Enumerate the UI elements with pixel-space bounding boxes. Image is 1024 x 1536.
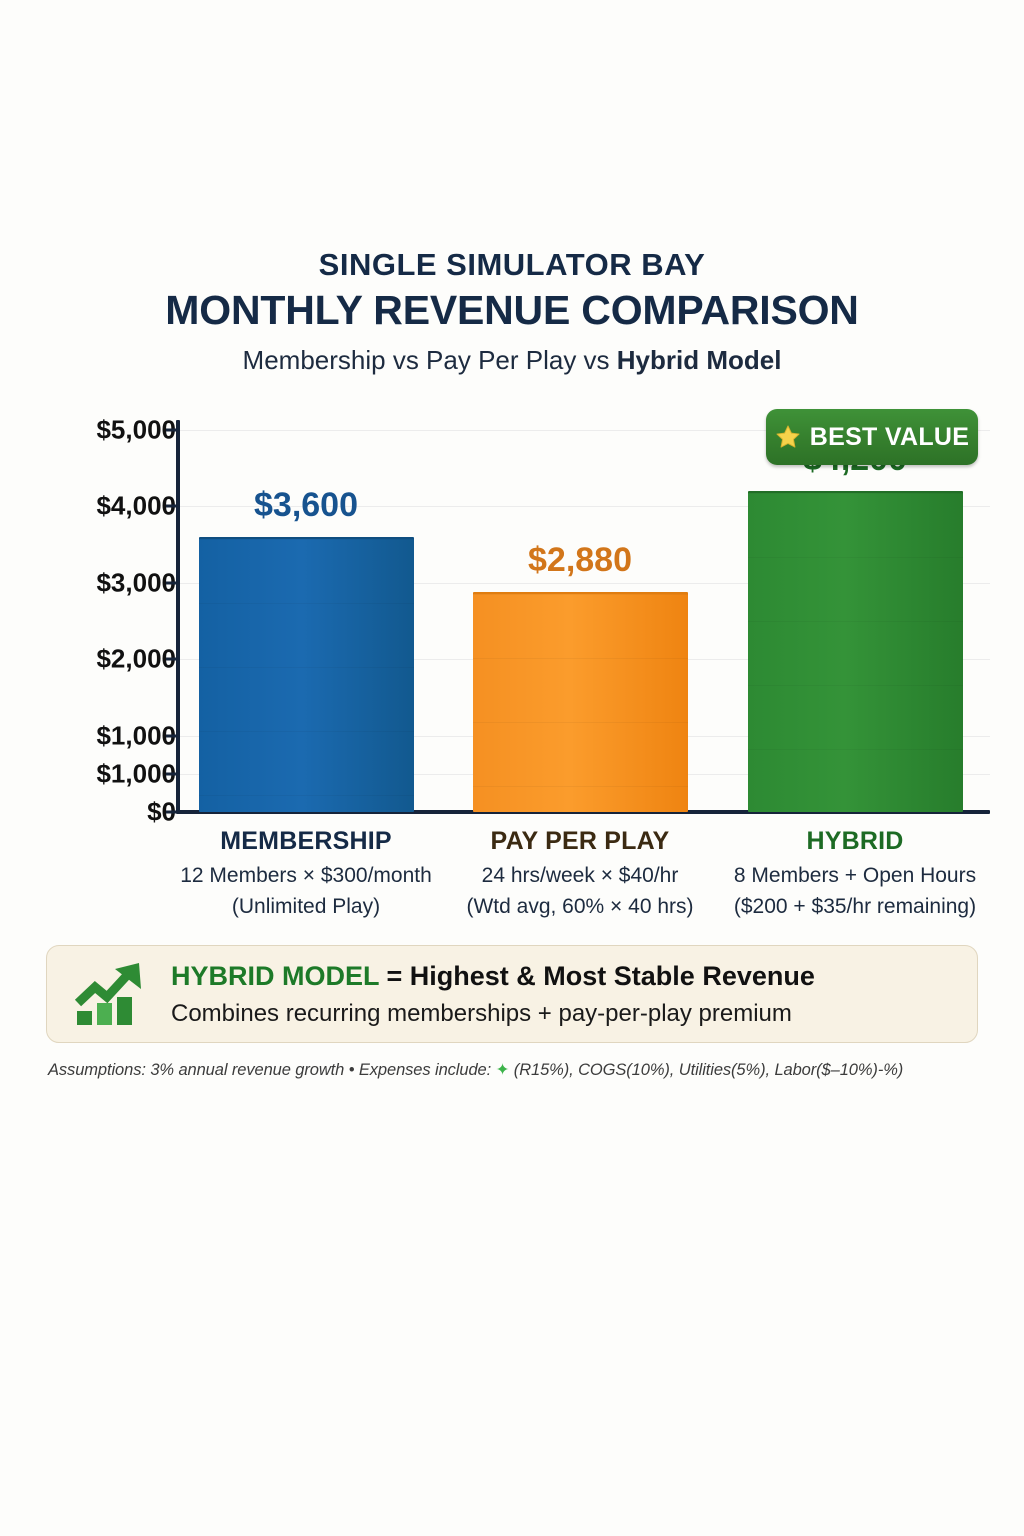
callout-text: HYBRID MODEL = Highest & Most Stable Rev… <box>171 959 951 1029</box>
page-title: MONTHLY REVENUE COMPARISON <box>0 286 1024 335</box>
bars-container: $3,600$2,880$4,200 <box>178 430 990 812</box>
title-block: SINGLE SIMULATOR BAY MONTHLY REVENUE COM… <box>0 248 1024 376</box>
hybrid-callout-box: HYBRID MODEL = Highest & Most Stable Rev… <box>46 945 978 1043</box>
callout-line-1: HYBRID MODEL = Highest & Most Stable Rev… <box>171 959 951 994</box>
y-axis-tick-label: $5,000 <box>46 415 176 446</box>
infographic-page: SINGLE SIMULATOR BAY MONTHLY REVENUE COM… <box>0 0 1024 1536</box>
assumptions-footnote: Assumptions: 3% annual revenue growth • … <box>48 1060 988 1080</box>
y-axis-tick-label: $1,000 <box>46 758 176 789</box>
subtitle-bold: Hybrid Model <box>617 345 782 375</box>
category-detail-line-2: ($200 + $35/hr remaining) <box>685 892 1024 922</box>
callout-highlight: HYBRID MODEL <box>171 961 379 991</box>
subtitle: Membership vs Pay Per Play vs Hybrid Mod… <box>0 345 1024 376</box>
y-axis-tick-label: $1,000 <box>46 720 176 751</box>
bar-value-label: $2,880 <box>473 541 688 580</box>
best-value-label: BEST VALUE <box>810 423 970 452</box>
y-axis-tick-label: $4,000 <box>46 491 176 522</box>
star-icon <box>775 424 801 450</box>
bar-pay-per-play[interactable] <box>473 592 688 812</box>
footnote-rest: (R15%), COGS(10%), Utilities(5%), Labor(… <box>509 1061 903 1079</box>
sparkle-icon: ✦ <box>496 1061 510 1079</box>
bar-value-label: $3,600 <box>199 486 414 525</box>
category-detail-line-1: 8 Members + Open Hours <box>685 861 1024 891</box>
kicker-text: SINGLE SIMULATOR BAY <box>0 248 1024 282</box>
category-block: HYBRID8 Members + Open Hours($200 + $35/… <box>685 826 1024 922</box>
growth-chart-icon <box>73 959 151 1029</box>
category-detail: 8 Members + Open Hours($200 + $35/hr rem… <box>685 861 1024 922</box>
y-axis-tick-label: $0 <box>46 797 176 828</box>
category-labels: MEMBERSHIP12 Members × $300/month(Unlimi… <box>0 826 1024 936</box>
callout-line-2: Combines recurring memberships + pay-per… <box>171 998 951 1029</box>
subtitle-plain: Membership vs Pay Per Play vs <box>243 345 617 375</box>
y-axis-tick-label: $2,000 <box>46 644 176 675</box>
bar-hybrid[interactable] <box>748 491 963 812</box>
category-name: HYBRID <box>685 826 1024 857</box>
footnote-lead: Assumptions: 3% annual revenue growth • … <box>48 1061 496 1079</box>
best-value-badge[interactable]: BEST VALUE <box>766 409 978 465</box>
bar-membership[interactable] <box>199 537 414 812</box>
y-axis-tick-label: $3,000 <box>46 567 176 598</box>
callout-rest: = Highest & Most Stable Revenue <box>379 961 815 991</box>
